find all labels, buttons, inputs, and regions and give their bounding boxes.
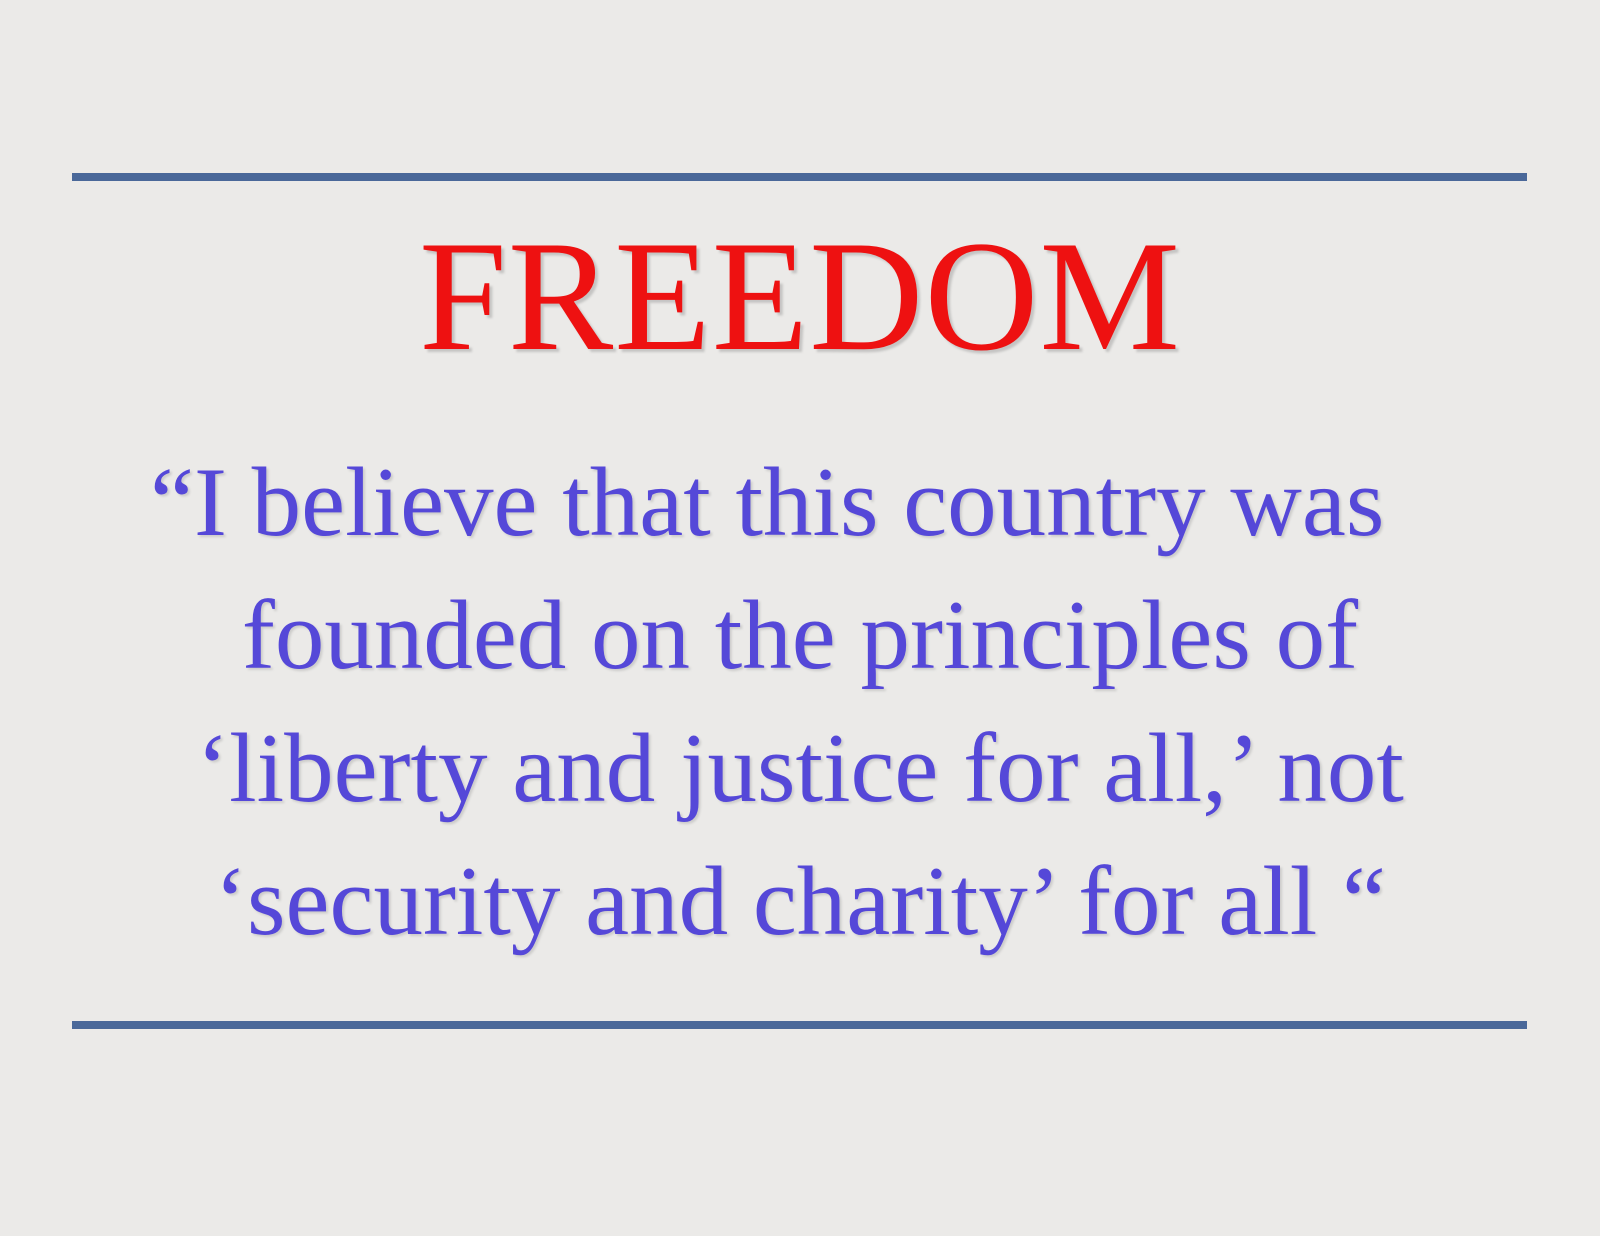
quote-line-1: “I believe that this country was [150,436,1450,569]
page-title: FREEDOM [0,218,1600,376]
divider-rule-top [72,173,1527,181]
quote-block: “I believe that this country was founded… [150,436,1450,968]
quote-slide: FREEDOM “I believe that this country was… [0,0,1600,1236]
quote-line-2: founded on the principles of [150,569,1450,702]
quote-line-4: ‘security and charity’ for all “ [150,835,1450,968]
quote-line-3: ‘liberty and justice for all,’ not [150,702,1450,835]
divider-rule-bottom [72,1021,1527,1029]
